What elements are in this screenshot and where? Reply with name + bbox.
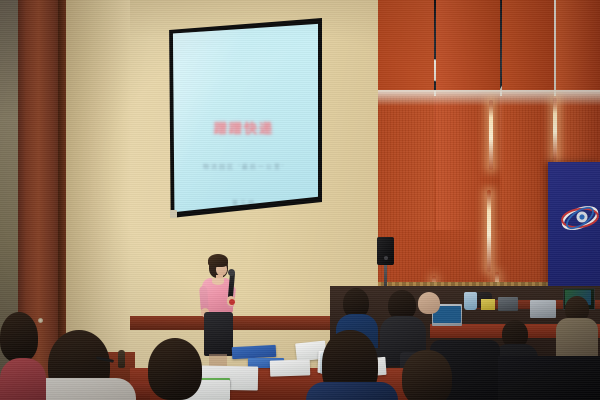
laptop — [498, 297, 518, 311]
wall-light-strip — [487, 190, 491, 272]
loudspeaker-driver-icon — [384, 256, 388, 260]
pa-loudspeaker — [377, 237, 394, 265]
photo-scene: 蹭蹭快递 物流园区 '最后一公里' 第三组 — [0, 0, 600, 400]
audience-person-head — [418, 292, 440, 314]
column-screw-icon — [38, 318, 43, 323]
foreground-shadow-right — [498, 356, 600, 400]
foreground-person-shoulder — [0, 358, 46, 400]
presenter-black-skirt — [204, 312, 233, 356]
presenter-hair — [208, 254, 228, 267]
presenter-collar — [212, 278, 224, 285]
foreground-person-head — [148, 338, 202, 400]
dark-bottle — [118, 350, 125, 368]
yellow-box — [481, 299, 495, 310]
paper-sheet — [270, 359, 311, 376]
blue-folder — [232, 345, 277, 359]
laptop — [530, 300, 556, 318]
wall-light-strip — [553, 98, 557, 160]
foreground-person-head — [402, 350, 452, 400]
screen-glare — [170, 22, 318, 214]
orbit-ring-logo-icon — [560, 196, 600, 240]
microphone-indicator-icon — [229, 299, 235, 305]
screen-bottom-mount — [170, 210, 177, 218]
water-jug — [464, 292, 477, 310]
foreground-person-head — [0, 312, 38, 362]
microphone-capsule-icon — [228, 269, 235, 276]
wall-light-strip — [489, 100, 493, 170]
foreground-person-body — [306, 382, 398, 400]
